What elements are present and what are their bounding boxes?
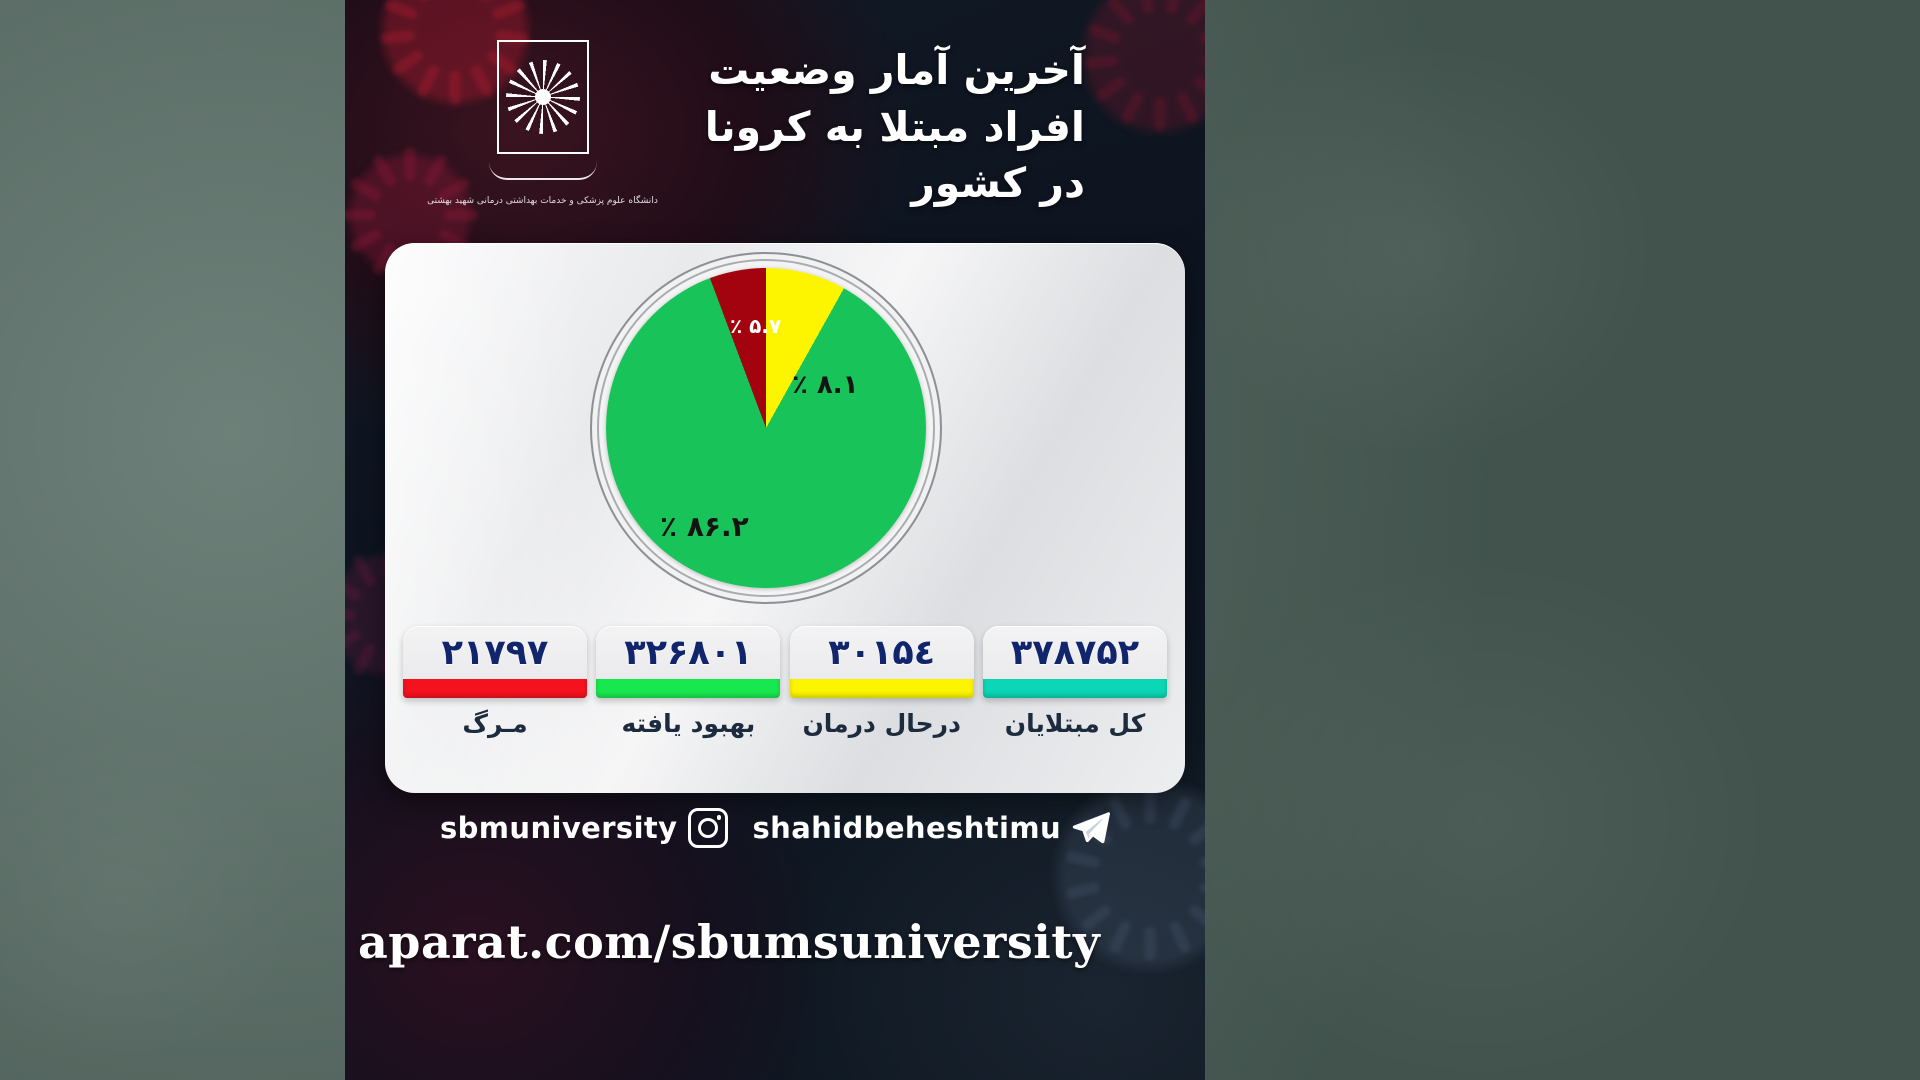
stat-card-box: ۳۰۱۵٤ <box>790 626 974 698</box>
virus-spike-icon <box>351 642 378 677</box>
virus-spike-icon <box>1167 919 1192 954</box>
stat-label: درحال درمان <box>802 709 960 738</box>
telegram-handle[interactable]: shahidbeheshtimu <box>752 811 1110 845</box>
stat-color-bar <box>403 679 587 698</box>
stat-card-recovered: ۳۲۶۸۰۱ بهبود یافته <box>596 626 780 738</box>
stat-color-bar <box>983 679 1167 698</box>
stat-label: کل مبتلایان <box>1005 709 1146 738</box>
page-title: آخرین آمار وضعیت افراد مبتلا به کرونا در… <box>665 42 1085 212</box>
virus-spike-icon <box>1187 903 1205 933</box>
stat-color-bar <box>790 679 974 698</box>
pie-slices <box>606 268 926 588</box>
stat-card-total-cases: ۳۷۸۷۵۲ کل مبتلایان <box>983 626 1167 738</box>
telegram-username: shahidbeheshtimu <box>752 811 1061 845</box>
stat-color-bar <box>596 679 780 698</box>
instagram-username: sbmuniversity <box>440 811 678 845</box>
virus-spike-icon <box>1108 919 1133 954</box>
logo-caption: دانشگاه علوم پزشکی و خدمات بهداشتی درمان… <box>427 196 658 206</box>
stats-panel: ٪ ۸.۱ ٪ ۵.۷ ٪ ۸۶.۲ ۳۷۸۷۵۲ کل مبتلایان ۳۰… <box>385 243 1185 793</box>
virus-spike-icon <box>1065 881 1101 899</box>
instagram-handle[interactable]: sbmuniversity <box>440 808 729 848</box>
stat-card-under-treatment: ۳۰۱۵٤ درحال درمان <box>790 626 974 738</box>
stat-card-box: ۲۱۷۹۷ <box>403 626 587 698</box>
virus-spike-icon <box>1145 927 1156 961</box>
stat-value: ۲۱۷۹۷ <box>403 635 587 679</box>
logo-calligraphy-flourish <box>483 158 603 194</box>
university-logo: دانشگاه علوم پزشکی و خدمات بهداشتی درمان… <box>455 40 630 210</box>
pie-chart: ٪ ۸.۱ ٪ ۵.۷ ٪ ۸۶.۲ <box>590 252 942 604</box>
virus-spike-icon <box>345 610 356 621</box>
stat-value: ۳۲۶۸۰۱ <box>596 635 780 679</box>
stat-card-box: ۳۲۶۸۰۱ <box>596 626 780 698</box>
shamseh-rosette-icon <box>497 40 589 154</box>
aparat-watermark: aparat.com/sbumsuniversity <box>358 915 1100 969</box>
virus-spike-icon <box>345 627 363 654</box>
virus-spike-icon <box>1199 881 1205 899</box>
virus-spike-icon <box>351 553 378 588</box>
instagram-icon <box>688 808 728 848</box>
telegram-icon <box>1072 811 1110 845</box>
stat-card-row: ۳۷۸۷۵۲ کل مبتلایان ۳۰۱۵٤ درحال درمان ۳۲۶… <box>403 626 1167 746</box>
stat-value: ۳۷۸۷۵۲ <box>983 635 1167 679</box>
stat-card-deaths: ۲۱۷۹۷ مـرگ <box>403 626 587 738</box>
stat-label: بهبود یافته <box>621 709 755 738</box>
stat-card-box: ۳۷۸۷۵۲ <box>983 626 1167 698</box>
social-footer: sbmuniversity shahidbeheshtimu <box>345 800 1205 856</box>
stat-value: ۳۰۱۵٤ <box>790 635 974 679</box>
poster-header: دانشگاه علوم پزشکی و خدمات بهداشتی درمان… <box>345 0 1205 236</box>
virus-spike-icon <box>345 576 363 603</box>
stat-label: مـرگ <box>462 709 527 738</box>
